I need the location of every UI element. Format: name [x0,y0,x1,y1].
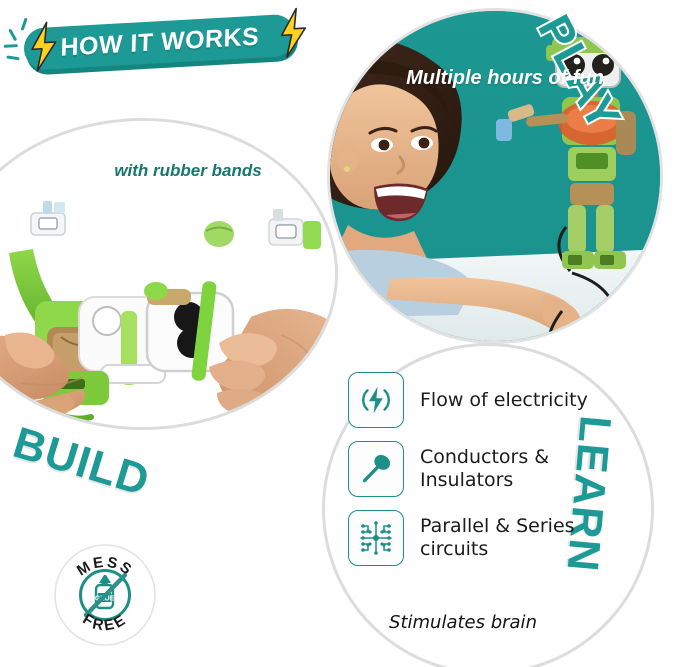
spark-line [8,28,17,41]
play-photo [330,11,660,341]
play-photo-illustration [330,11,663,344]
learn-item-label: Parallel & Series circuits [420,515,598,561]
learn-footer-text: Stimulates brain [348,612,578,633]
learn-item-label: Flow of electricity [420,389,588,412]
play-caption: Multiple hours of fun [400,66,610,90]
spark-line [4,44,18,48]
mess-free-badge: GLUE MESS FREE [53,543,157,647]
learn-feature-list: Flow of electricity Conductors & Insulat… [348,372,598,579]
play-photo-circle [327,8,663,344]
learn-item-label: Conductors & Insulators [420,446,598,492]
build-label: BUILD [7,418,155,507]
spoon-icon [348,441,404,497]
lightning-bolt-circle-icon [348,372,404,428]
infographic-canvas: with rubber bands [0,0,679,667]
learn-item-conductors-insulators: Conductors & Insulators [348,441,598,497]
spark-line [6,55,19,60]
how-it-works-banner: HOW IT WORKS [16,6,309,84]
circuit-chip-icon [348,510,404,566]
learn-item-parallel-series-circuits: Parallel & Series circuits [348,510,598,566]
build-caption: with rubber bands [108,160,268,181]
learn-item-flow-of-electricity: Flow of electricity [348,372,598,428]
